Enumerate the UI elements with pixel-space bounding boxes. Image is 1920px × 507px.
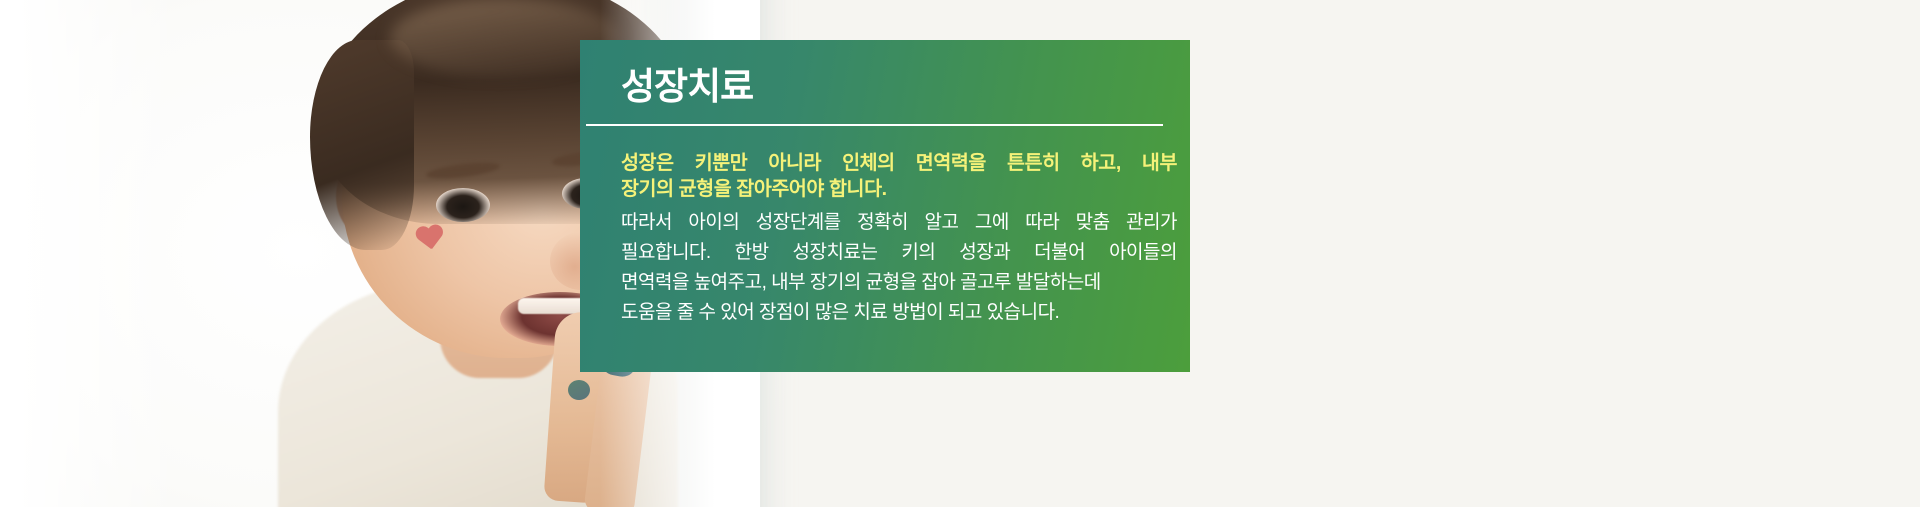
body-line-2: 필요합니다. 한방 성장치료는 키의 성장과 더불어 아이들의 xyxy=(621,238,1177,268)
child-eye-left xyxy=(436,188,490,222)
lead-paragraph: 성장은 키뿐만 아니라 인체의 면역력을 튼튼히 하고, 내부 장기의 균형을 … xyxy=(621,150,1177,202)
growth-treatment-banner: 성장치료 성장은 키뿐만 아니라 인체의 면역력을 튼튼히 하고, 내부 장기의… xyxy=(0,0,1920,507)
body-line-1: 따라서 아이의 성장단계를 정확히 알고 그에 따라 맞춤 관리가 xyxy=(621,208,1177,238)
content-panel-inner: 성장치료 성장은 키뿐만 아니라 인체의 면역력을 튼튼히 하고, 내부 장기의… xyxy=(580,40,1190,372)
body-line-3: 면역력을 높여주고, 내부 장기의 균형을 잡아 골고루 발달하는데 xyxy=(621,268,1177,298)
body-line-4: 도움을 줄 수 있어 장점이 많은 치료 방법이 되고 있습니다. xyxy=(621,298,1177,328)
heart-face-paint-icon xyxy=(414,224,448,258)
child-hair-side xyxy=(310,40,414,250)
body-paragraph: 따라서 아이의 성장단계를 정확히 알고 그에 따라 맞춤 관리가 필요합니다.… xyxy=(621,208,1177,328)
page-title: 성장치료 xyxy=(621,68,753,105)
lead-line-1: 성장은 키뿐만 아니라 인체의 면역력을 튼튼히 하고, 내부 xyxy=(621,150,1177,176)
child-fingernail-paint-secondary xyxy=(568,380,590,400)
photo-left-fade xyxy=(0,0,180,507)
content-panel: 성장치료 성장은 키뿐만 아니라 인체의 면역력을 튼튼히 하고, 내부 장기의… xyxy=(580,40,1190,372)
lead-line-2: 장기의 균형을 잡아주어야 합니다. xyxy=(621,176,1177,202)
title-divider xyxy=(586,124,1163,126)
